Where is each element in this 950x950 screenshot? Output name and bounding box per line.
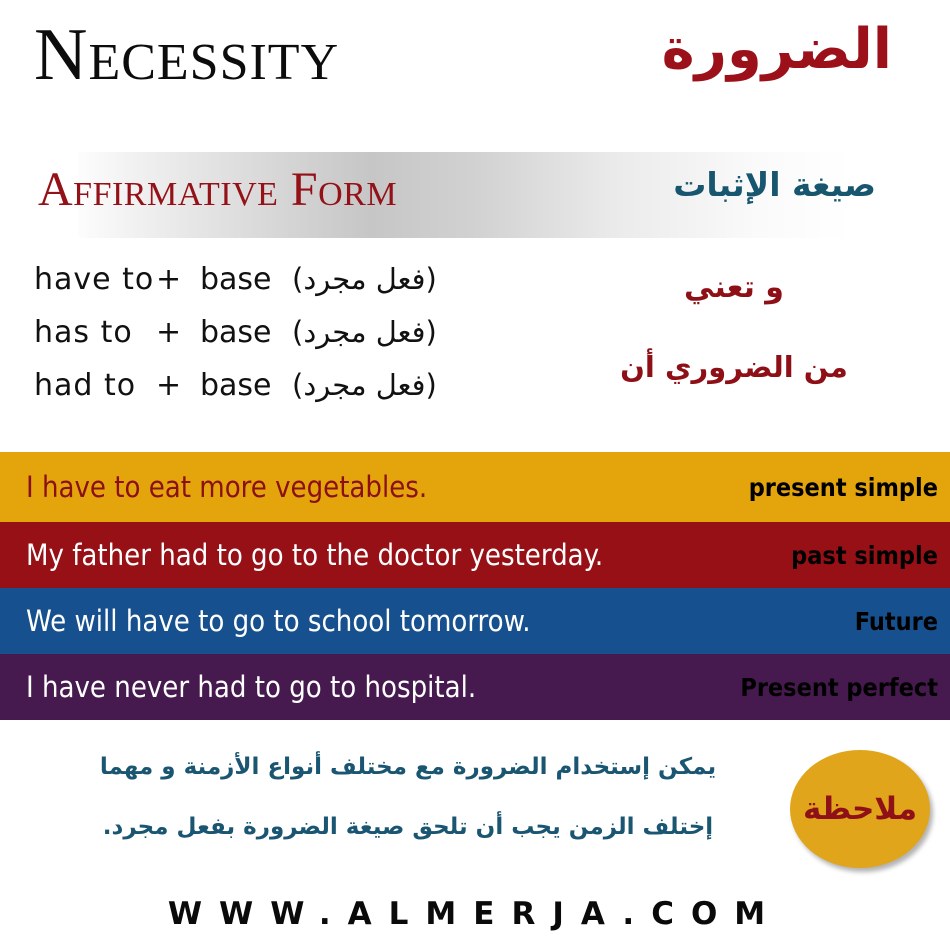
note-badge: ملاحظة (790, 750, 930, 868)
example-row-future: We will have to go to school tomorrow. F… (0, 588, 950, 654)
formula-row: had to + base (فعل مجرد) (0, 368, 620, 421)
example-row-present-perfect: I have never had to go to hospital. Pres… (0, 654, 950, 720)
note-line-2: إختلف الزمن يجب أن تلحق صيغة الضرورة بفع… (28, 814, 788, 840)
formula-base-arabic: (فعل مجرد) (292, 262, 437, 296)
formula-row: has to + base (فعل مجرد) (0, 315, 620, 368)
meaning-block: و تعني من الضروري أن (574, 272, 894, 382)
title-row: Necessity الضرورة (0, 0, 950, 140)
formula-auxiliary: has to (34, 315, 156, 350)
formula-plus-sign: + (156, 262, 200, 297)
formula-base-word: base (200, 315, 292, 350)
example-sentence: My father had to go to the doctor yester… (0, 538, 603, 572)
subtitle-arabic: صيغة الإثبات (673, 168, 876, 201)
meaning-line-2: من الضروري أن (574, 352, 894, 382)
meaning-line-1: و تعني (574, 272, 894, 304)
formula-base-word: base (200, 368, 292, 403)
page-title-arabic: الضرورة (662, 22, 892, 78)
footer: WWW.ALMERJA.COM (0, 896, 950, 932)
example-tense-label: present simple (749, 473, 938, 502)
formula-base-arabic: (فعل مجرد) (292, 368, 437, 402)
grammar-poster: Necessity الضرورة Affirmative Form صيغة … (0, 0, 950, 950)
note-badge-label: ملاحظة (803, 794, 917, 825)
example-bands: I have to eat more vegetables. present s… (0, 452, 950, 720)
formula-auxiliary: had to (34, 368, 156, 403)
formula-row: have to + base (فعل مجرد) (0, 262, 620, 315)
page-title-english: Necessity (34, 18, 339, 92)
example-sentence: I have never had to go to hospital. (0, 670, 476, 704)
example-row-present-simple: I have to eat more vegetables. present s… (0, 452, 950, 522)
example-tense-label: Future (855, 607, 938, 636)
note-text: يمكن إستخدام الضرورة مع مختلف أنواع الأز… (28, 754, 788, 841)
example-tense-label: past simple (791, 541, 938, 570)
formula-list: have to + base (فعل مجرد) has to + base … (0, 262, 620, 421)
footer-website-url: WWW.ALMERJA.COM (168, 896, 782, 932)
formula-plus-sign: + (156, 368, 200, 403)
example-tense-label: Present perfect (740, 673, 938, 702)
note-line-1: يمكن إستخدام الضرورة مع مختلف أنواع الأز… (28, 754, 788, 780)
example-sentence: I have to eat more vegetables. (0, 470, 427, 504)
example-sentence: We will have to go to school tomorrow. (0, 604, 531, 638)
formula-base-word: base (200, 262, 292, 297)
subtitle-english: Affirmative Form (38, 166, 397, 214)
formula-base-arabic: (فعل مجرد) (292, 315, 437, 349)
example-row-past-simple: My father had to go to the doctor yester… (0, 522, 950, 588)
formula-plus-sign: + (156, 315, 200, 350)
formula-auxiliary: have to (34, 262, 156, 297)
